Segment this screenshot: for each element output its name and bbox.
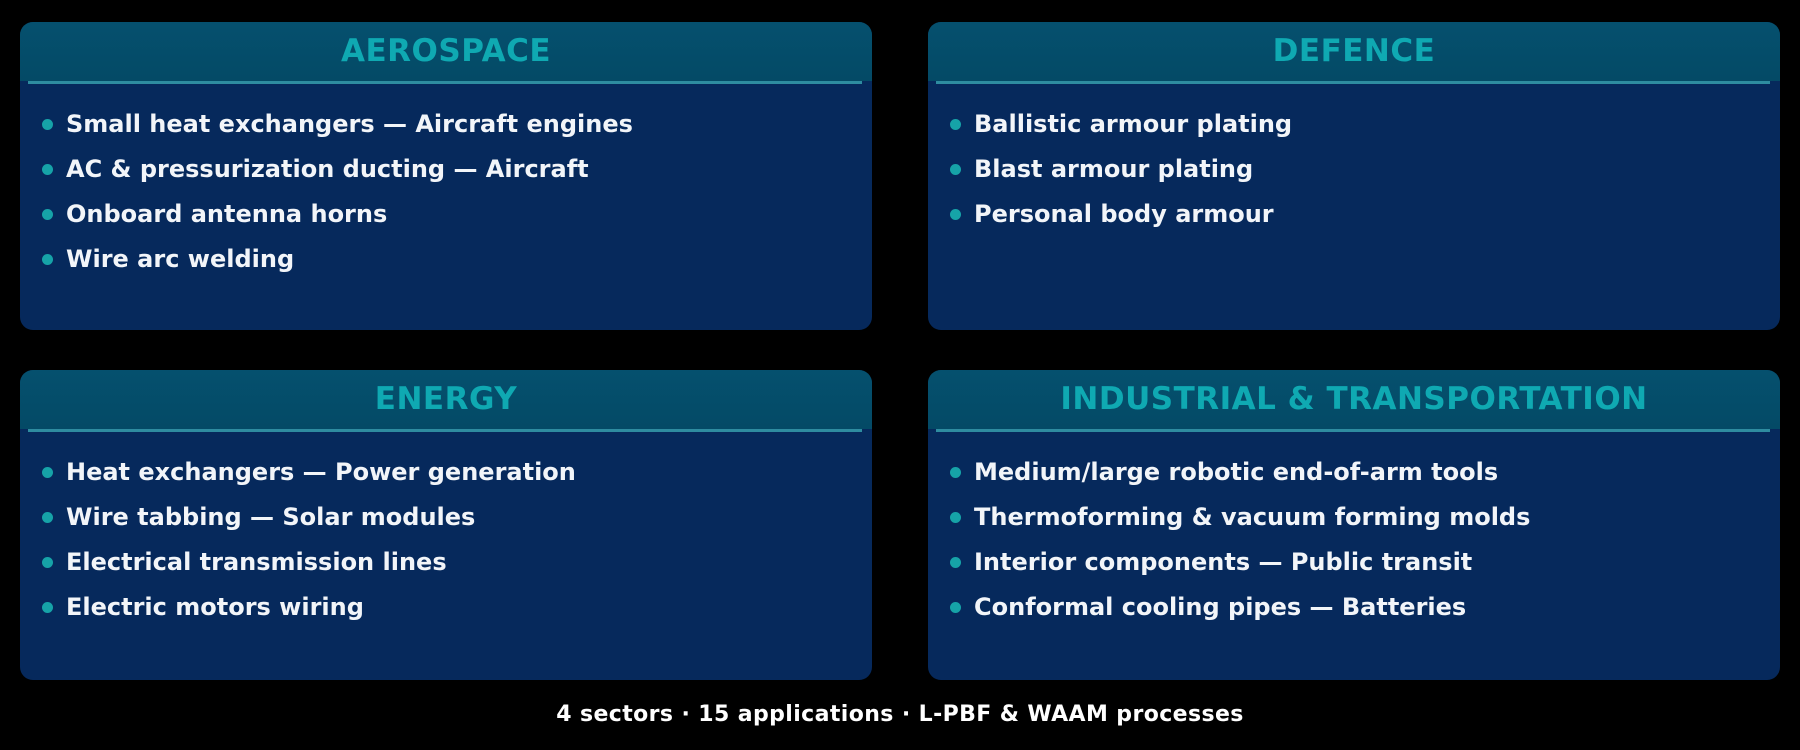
- card-body-aerospace: Small heat exchangers — Aircraft engines…: [20, 84, 872, 330]
- list-item[interactable]: Personal body armour: [950, 192, 1758, 237]
- application-label: Blast armour plating: [974, 156, 1253, 182]
- card-title-industrial-transportation: INDUSTRIAL & TRANSPORTATION: [1060, 384, 1647, 415]
- application-label: Medium/large robotic end-of-arm tools: [974, 459, 1498, 485]
- application-label: Wire tabbing — Solar modules: [66, 504, 475, 530]
- card-title-defence: DEFENCE: [1273, 36, 1436, 67]
- card-body-defence: Ballistic armour plating Blast armour pl…: [928, 84, 1780, 330]
- list-item[interactable]: Small heat exchangers — Aircraft engines: [42, 102, 850, 147]
- card-title-aerospace: AEROSPACE: [341, 36, 551, 67]
- application-label: Electric motors wiring: [66, 594, 364, 620]
- application-list-industrial-transportation: Medium/large robotic end-of-arm tools Th…: [950, 450, 1758, 630]
- application-list-defence: Ballistic armour plating Blast armour pl…: [950, 102, 1758, 237]
- card-title-energy: ENERGY: [375, 384, 517, 415]
- bullet-dot-icon: [950, 602, 961, 613]
- application-label: Onboard antenna horns: [66, 201, 387, 227]
- card-header-industrial-transportation: INDUSTRIAL & TRANSPORTATION: [928, 370, 1780, 429]
- bullet-dot-icon: [42, 164, 53, 175]
- sector-card-energy[interactable]: ENERGY Heat exchangers — Power generatio…: [20, 370, 872, 680]
- bullet-dot-icon: [950, 119, 961, 130]
- sector-applications-board: AEROSPACE Small heat exchangers — Aircra…: [0, 0, 1800, 750]
- application-list-aerospace: Small heat exchangers — Aircraft engines…: [42, 102, 850, 282]
- list-item[interactable]: AC & pressurization ducting — Aircraft: [42, 147, 850, 192]
- application-label: Personal body armour: [974, 201, 1274, 227]
- sector-card-aerospace[interactable]: AEROSPACE Small heat exchangers — Aircra…: [20, 22, 872, 330]
- list-item[interactable]: Ballistic armour plating: [950, 102, 1758, 147]
- bullet-dot-icon: [950, 512, 961, 523]
- application-label: Small heat exchangers — Aircraft engines: [66, 111, 633, 137]
- footer-summary: 4 sectors · 15 applications · L-PBF & WA…: [0, 702, 1800, 727]
- list-item[interactable]: Wire arc welding: [42, 237, 850, 282]
- bullet-dot-icon: [950, 467, 961, 478]
- list-item[interactable]: Electrical transmission lines: [42, 540, 850, 585]
- application-label: Conformal cooling pipes — Batteries: [974, 594, 1466, 620]
- bullet-dot-icon: [42, 512, 53, 523]
- sector-card-industrial-transportation[interactable]: INDUSTRIAL & TRANSPORTATION Medium/large…: [928, 370, 1780, 680]
- list-item[interactable]: Onboard antenna horns: [42, 192, 850, 237]
- application-label: Ballistic armour plating: [974, 111, 1292, 137]
- sector-card-defence[interactable]: DEFENCE Ballistic armour plating Blast a…: [928, 22, 1780, 330]
- list-item[interactable]: Interior components — Public transit: [950, 540, 1758, 585]
- bullet-dot-icon: [42, 467, 53, 478]
- card-header-defence: DEFENCE: [928, 22, 1780, 81]
- application-label: Heat exchangers — Power generation: [66, 459, 576, 485]
- footer-summary-label: 4 sectors · 15 applications · L-PBF & WA…: [556, 702, 1244, 727]
- card-body-energy: Heat exchangers — Power generation Wire …: [20, 432, 872, 680]
- list-item[interactable]: Thermoforming & vacuum forming molds: [950, 495, 1758, 540]
- list-item[interactable]: Conformal cooling pipes — Batteries: [950, 585, 1758, 630]
- application-label: Thermoforming & vacuum forming molds: [974, 504, 1530, 530]
- bullet-dot-icon: [42, 209, 53, 220]
- application-label: Wire arc welding: [66, 246, 294, 272]
- application-list-energy: Heat exchangers — Power generation Wire …: [42, 450, 850, 630]
- bullet-dot-icon: [950, 209, 961, 220]
- application-label: Electrical transmission lines: [66, 549, 447, 575]
- list-item[interactable]: Blast armour plating: [950, 147, 1758, 192]
- bullet-dot-icon: [950, 557, 961, 568]
- list-item[interactable]: Electric motors wiring: [42, 585, 850, 630]
- application-label: Interior components — Public transit: [974, 549, 1472, 575]
- card-header-aerospace: AEROSPACE: [20, 22, 872, 81]
- bullet-dot-icon: [42, 119, 53, 130]
- list-item[interactable]: Wire tabbing — Solar modules: [42, 495, 850, 540]
- card-body-industrial-transportation: Medium/large robotic end-of-arm tools Th…: [928, 432, 1780, 680]
- bullet-dot-icon: [42, 254, 53, 265]
- application-label: AC & pressurization ducting — Aircraft: [66, 156, 589, 182]
- card-header-energy: ENERGY: [20, 370, 872, 429]
- list-item[interactable]: Heat exchangers — Power generation: [42, 450, 850, 495]
- sector-card-grid: AEROSPACE Small heat exchangers — Aircra…: [20, 22, 1780, 680]
- bullet-dot-icon: [42, 602, 53, 613]
- bullet-dot-icon: [42, 557, 53, 568]
- bullet-dot-icon: [950, 164, 961, 175]
- list-item[interactable]: Medium/large robotic end-of-arm tools: [950, 450, 1758, 495]
